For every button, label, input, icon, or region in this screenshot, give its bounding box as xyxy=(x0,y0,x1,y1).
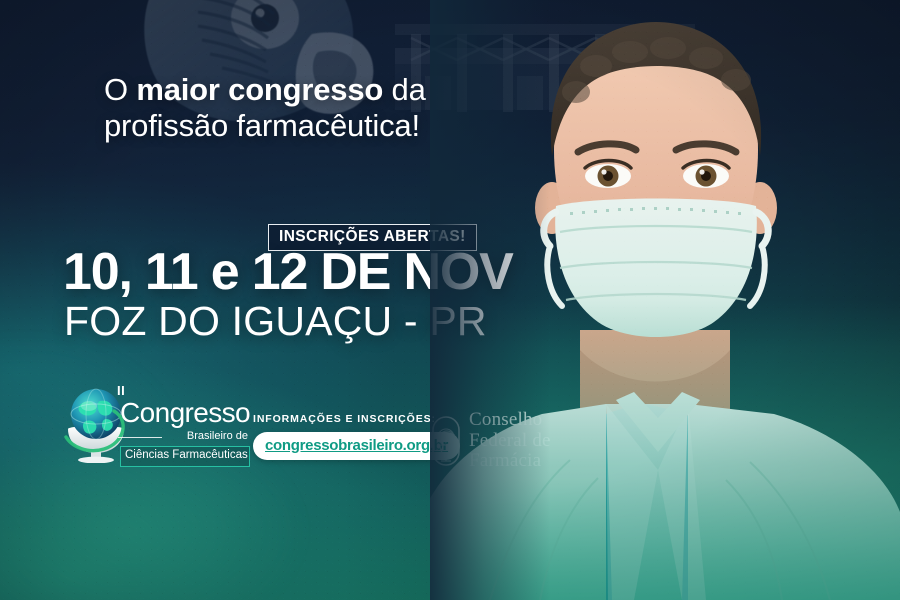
registration-url-button[interactable]: congressobrasileiro.org.br xyxy=(253,432,460,460)
headline-line1-prefix: O xyxy=(104,72,136,107)
event-date: 10, 11 e 12 DE NOV xyxy=(63,246,513,298)
cff-monogram-icon: CFF xyxy=(431,415,461,467)
congress-logo: II Congresso Brasileiro de Ciências Farm… xyxy=(60,385,245,467)
registration-label: INFORMAÇÕES E INSCRIÇÕES: xyxy=(253,414,428,425)
headline-line2: profissão farmacêutica! xyxy=(104,108,534,144)
council-logo-text: Conselho Federal de Farmácia xyxy=(469,410,551,472)
council-line-1: Conselho xyxy=(469,410,551,431)
council-logo: CFF Conselho Federal de Farmácia xyxy=(431,410,551,472)
congress-name: Congresso xyxy=(120,399,250,427)
event-location: FOZ DO IGUAÇU - PR xyxy=(64,301,487,342)
congress-qualifier: Brasileiro de xyxy=(120,431,250,442)
headline-line1-suffix: da xyxy=(383,72,426,107)
congress-logo-text: Congresso Brasileiro de Ciências Farmacê… xyxy=(120,391,250,467)
promo-banner: O maior congresso da profissão farmacêut… xyxy=(0,0,900,600)
headline: O maior congresso da profissão farmacêut… xyxy=(104,72,534,144)
council-line-2: Federal de xyxy=(469,431,551,452)
headline-line1-strong: maior congresso xyxy=(136,72,383,107)
svg-text:CFF: CFF xyxy=(437,433,455,444)
registration-block: INFORMAÇÕES E INSCRIÇÕES: congressobrasi… xyxy=(253,414,428,460)
congress-field: Ciências Farmacêuticas xyxy=(120,446,250,467)
council-line-3: Farmácia xyxy=(469,451,551,472)
